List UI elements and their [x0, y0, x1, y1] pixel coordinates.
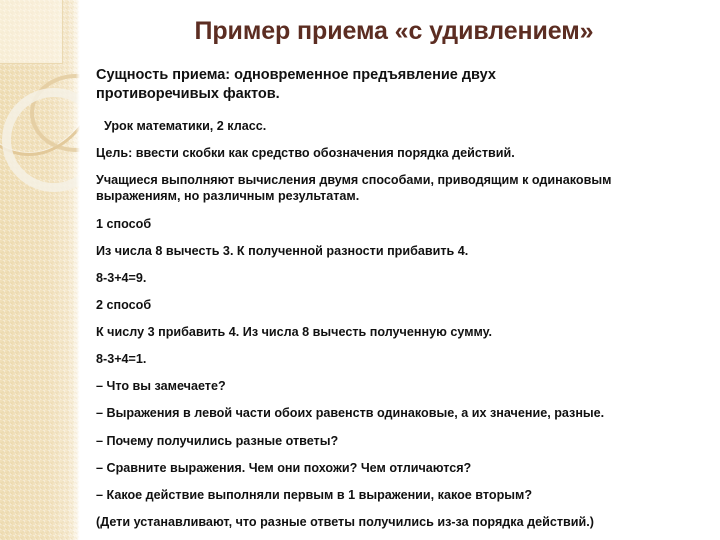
body-line-10: – Что вы замечаете? [96, 378, 678, 394]
slide-body: Сущность приема: одновременное предъявле… [96, 66, 678, 540]
body-line-15: (Дети устанавливают, что разные ответы п… [96, 514, 672, 530]
sidebar-edge [76, 0, 80, 540]
body-line-7: 2 способ [96, 297, 678, 313]
body-line-9: 8-3+4=1. [96, 351, 678, 367]
slide-title: Пример приема «с удивлением» [80, 16, 708, 46]
body-line-5: Из числа 8 вычесть 3. К полученной разно… [96, 243, 678, 259]
body-line-11: – Выражения в левой части обоих равенств… [96, 405, 644, 421]
decorative-sidebar [0, 0, 80, 540]
slide-canvas: Пример приема «с удивлением» Сущность пр… [0, 0, 720, 540]
lead-paragraph: Сущность приема: одновременное предъявле… [96, 66, 564, 104]
body-line-3: Учащиеся выполняют вычисления двумя спос… [96, 172, 644, 204]
body-line-6: 8-3+4=9. [96, 270, 678, 286]
body-line-13: – Сравните выражения. Чем они похожи? Че… [96, 460, 678, 476]
body-line-1: Урок математики, 2 класс. [96, 118, 678, 134]
body-line-8: К числу 3 прибавить 4. Из числа 8 вычест… [96, 324, 678, 340]
body-line-12: – Почему получились разные ответы? [96, 433, 678, 449]
body-line-14: – Какое действие выполняли первым в 1 вы… [96, 487, 678, 503]
body-line-2: Цель: ввести скобки как средство обознач… [96, 145, 678, 161]
body-line-4: 1 способ [96, 216, 678, 232]
